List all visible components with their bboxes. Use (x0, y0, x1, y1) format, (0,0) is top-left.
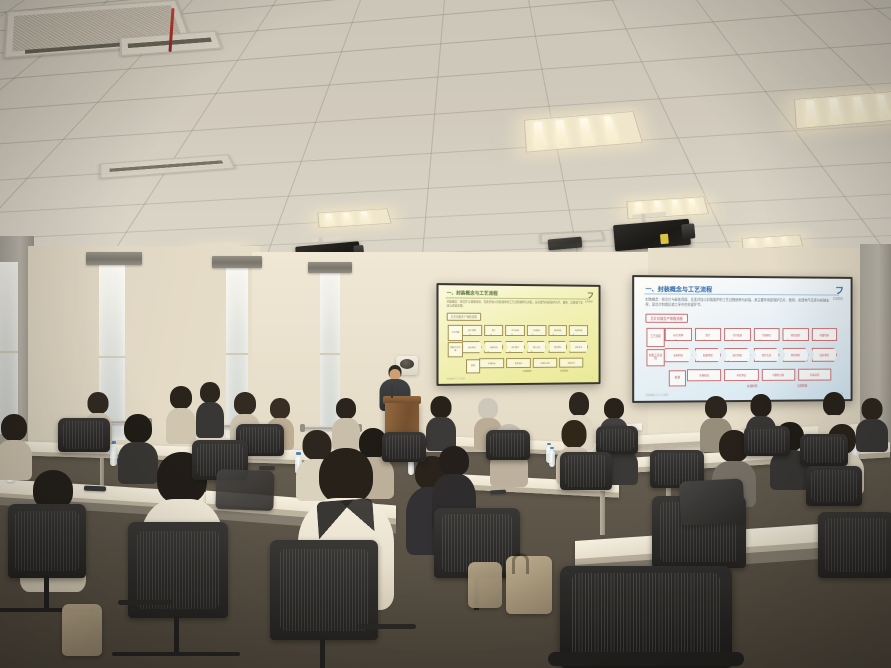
office-chair[interactable] (270, 540, 378, 640)
flow-arrow-down: ▼ (552, 335, 554, 337)
student-mid-1 (0, 414, 32, 476)
bag-on-desk-left (215, 469, 274, 511)
slide-left-caption-right: 出货检验 (560, 370, 568, 373)
backpack-center (506, 556, 552, 614)
slide-right-title: 一、封装概念与工艺流程 (645, 284, 712, 294)
smartphone[interactable] (490, 490, 506, 495)
office-chair[interactable] (806, 466, 862, 506)
office-chair[interactable] (744, 426, 790, 456)
slide-left-row-label-bottom: 检测 (466, 359, 480, 373)
office-chair[interactable] (128, 522, 228, 618)
water-bottle (549, 447, 555, 467)
classroom-photo: 一、封装概念与工艺流程 封装概念：将芯片与载体连接、互连并加以封装保护的工艺过程… (0, 0, 891, 668)
student-back-2 (166, 386, 196, 442)
process-step: 来料检验 (665, 348, 692, 362)
process-step: 外观检验 (479, 358, 504, 368)
flow-arrow-down: ▼ (727, 361, 729, 363)
backpack-on-desk (679, 478, 745, 525)
flow-arrow-down: ▼ (697, 361, 699, 363)
slide-left-caption-left: 在线检测 (523, 370, 531, 373)
process-step: 引线键合 (527, 325, 546, 336)
ceiling-grid-line-v (416, 0, 445, 272)
flow-arrow-down: ▼ (532, 335, 534, 337)
flow-arrow-down: ▼ (731, 340, 733, 342)
window-0 (0, 262, 18, 434)
roller-blind-housing-2 (212, 256, 262, 268)
backpack-left (62, 604, 102, 656)
slide-right-row-label-mid: 制程工序流程 (646, 349, 664, 366)
flow-arrow-down: ▼ (490, 335, 492, 337)
flow-arrow-down: ▼ (786, 340, 788, 342)
flow-arrow-down: ▼ (806, 361, 808, 363)
slide-left: 一、封装概念与工艺流程 封装概念：将芯片与载体连接、互连并加以封装保护的工艺过程… (439, 285, 599, 384)
slide-left-footer: 封装概念与工艺流程 (447, 378, 465, 381)
process-step: 成品测试 (569, 341, 588, 353)
office-chair[interactable] (560, 452, 612, 490)
process-step: 硅片减薄 (665, 328, 692, 341)
slide-left-row-label-mid: 制程工序流程 (448, 342, 463, 357)
slide-left-page: 6 (592, 377, 593, 379)
lectern-microphone (391, 386, 393, 398)
slide-left-logo: フ 长电科技 (585, 291, 593, 304)
projection-screen-right: 一、封装概念与工艺流程 封装概念：将芯片与载体连接、互连并加以封装保护的工艺过程… (632, 275, 852, 403)
foreground-chair-base (548, 652, 744, 666)
flow-arrow-down: ▼ (511, 335, 513, 337)
slide-right-caption-left: 在线检测 (747, 384, 757, 388)
process-step: 包装出货 (798, 369, 831, 381)
process-step: 划片 (484, 325, 504, 336)
ceiling-grid-line-h (0, 191, 891, 241)
slide-right-body: 封装概念：将芯片与载体连接、互连并加以封装保护的工艺过程统称为封装，其主要作用是… (645, 297, 832, 308)
process-step: 外观检验 (687, 369, 721, 381)
process-step: 塑封固化 (548, 341, 567, 353)
flow-arrow-down: ▼ (569, 352, 571, 354)
slide-left-title: 一、封装概念与工艺流程 (447, 290, 498, 297)
flow-arrow-down: ▼ (531, 352, 533, 354)
ac-vent-slot (109, 160, 223, 172)
backpack-center-2 (468, 562, 502, 608)
office-chair[interactable] (800, 434, 848, 466)
flow-arrow-down: ▼ (814, 340, 816, 342)
office-chair[interactable] (58, 418, 110, 452)
slide-left-tag: 芯片封装生产制程流程 (447, 313, 481, 321)
process-step: 芯片贴装 (724, 328, 750, 341)
slide-right: 一、封装概念与工艺流程 封装概念：将芯片与载体连接、互连并加以封装保护的工艺过程… (634, 277, 850, 401)
water-bottle (110, 441, 117, 466)
flow-arrow-down: ▼ (487, 352, 489, 354)
process-step: 芯片贴装 (505, 325, 524, 336)
process-step: 电性测试 (724, 369, 758, 381)
slide-right-process-row-top: 硅片减薄划片芯片贴装引线键合塑封成型电镀切筋 (665, 329, 837, 340)
office-chair[interactable] (486, 430, 530, 460)
process-step: 划片 (695, 328, 722, 341)
slide-right-row-label-bottom: 检测 (669, 370, 686, 386)
slide-right-tag: 芯片封装生产制程流程 (645, 314, 687, 323)
slide-right-process-row-mid: 来料检验贴膜切割装片固化键合互连塑封固化成品测试 (665, 349, 837, 361)
flow-arrow-down: ▼ (759, 340, 761, 342)
slide-left-body: 封装概念：将芯片与载体连接、互连并加以封装保护的工艺过程统称为封装，其主要作用是… (447, 300, 585, 309)
smartphone[interactable] (259, 466, 275, 470)
flow-arrow-down: ▼ (703, 340, 705, 342)
flow-arrow-down: ▼ (675, 340, 677, 342)
office-chair[interactable] (596, 426, 638, 454)
process-step: 塑封成型 (548, 325, 567, 336)
process-step: 可靠性试验 (761, 369, 795, 381)
projection-screen-left: 一、封装概念与工艺流程 封装概念：将芯片与载体连接、互连并加以封装保护的工艺过程… (436, 283, 600, 386)
office-chair[interactable] (8, 504, 86, 578)
ceiling-grid-line-h (0, 79, 891, 147)
slide-left-process-row-top: 硅片减薄划片芯片贴装引线键合塑封成型电镀切筋 (462, 326, 588, 335)
smartphone[interactable] (84, 486, 106, 492)
process-step: 包装出货 (559, 358, 583, 368)
slide-right-row-label-top: 工艺流程 (646, 328, 664, 347)
process-step: 可靠性试验 (533, 358, 557, 368)
process-step: 引线键合 (753, 328, 779, 341)
slide-right-caption-right: 出货检验 (797, 384, 807, 388)
slide-left-process-row-bottom: 外观检验电性测试可靠性试验包装出货 (479, 359, 583, 368)
slide-right-process-row-bottom: 外观检验电性测试可靠性试验包装出货 (687, 370, 831, 381)
desk-leg (600, 491, 605, 535)
process-step: 电性测试 (506, 358, 531, 368)
slide-left-row-label-top: 工艺流程 (448, 325, 463, 341)
office-chair[interactable] (382, 432, 426, 462)
student-back-7 (426, 396, 456, 448)
flow-arrow-down: ▼ (573, 335, 575, 337)
process-step: 塑封固化 (783, 348, 809, 362)
flow-arrow-down: ▼ (509, 352, 511, 354)
process-step: 来料检验 (462, 341, 482, 353)
slide-right-logo: フ 长电科技 (833, 284, 843, 301)
process-step: 键合互连 (527, 341, 546, 353)
process-step: 成品测试 (811, 348, 837, 362)
office-chair[interactable] (818, 512, 891, 578)
roller-blind-housing-1 (86, 252, 142, 265)
slide-right-footer: 封装概念与工艺流程 (645, 393, 668, 397)
flow-arrow-down: ▼ (469, 335, 471, 337)
student-back-3 (196, 382, 224, 436)
ceiling-grid-line-v (246, 0, 361, 272)
process-step: 硅片减薄 (462, 325, 482, 336)
flow-arrow-down: ▼ (757, 361, 759, 363)
roller-blind-housing-3 (308, 262, 352, 273)
